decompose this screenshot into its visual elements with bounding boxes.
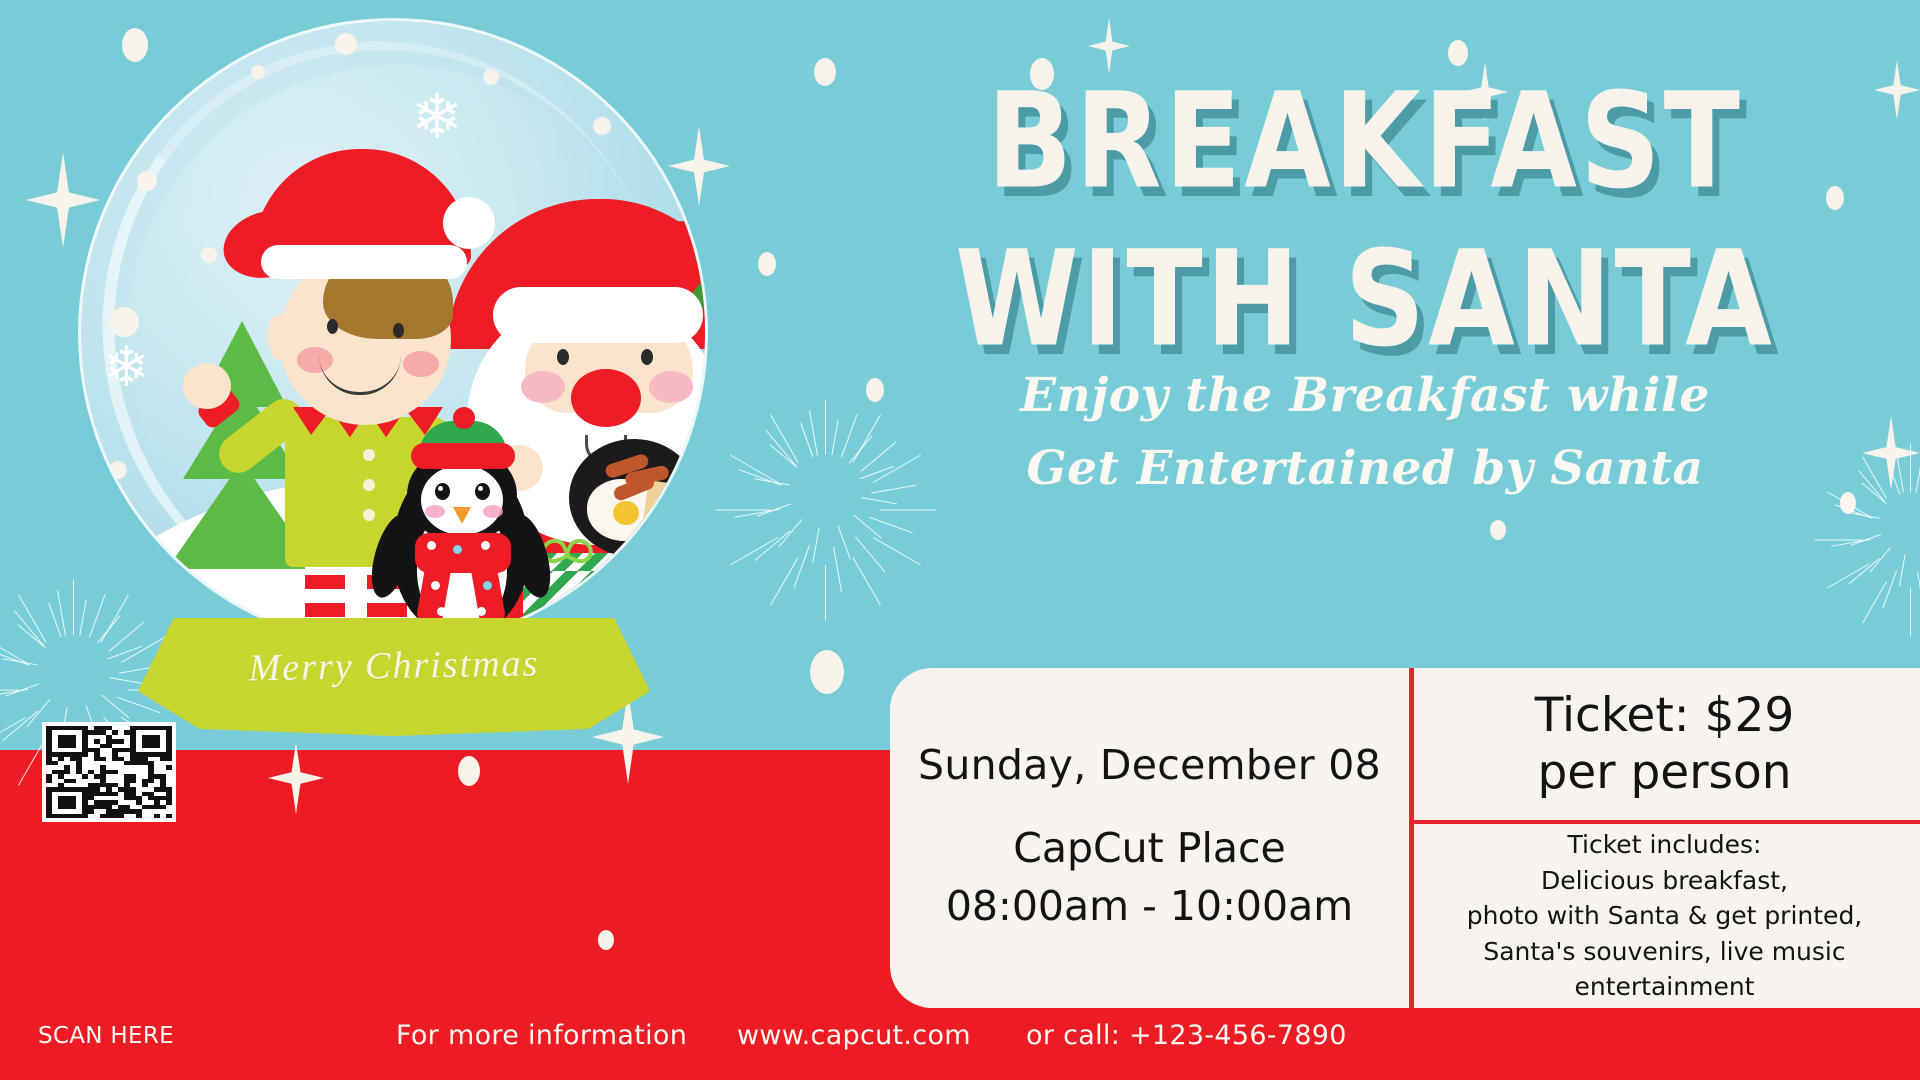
title-block: BREAKFAST WITH SANTA (845, 78, 1885, 346)
page-title-line-1: BREAKFAST (845, 78, 1885, 208)
penguin-beanie-pompom (453, 407, 475, 429)
subtitle-line-2: Get Entertained by Santa (845, 433, 1885, 506)
globe-base: Merry Christmas (138, 618, 650, 736)
ticket-includes-line-2: photo with Santa & get printed, (1467, 898, 1863, 934)
penguin-beanie-band (411, 443, 515, 469)
ticket-price-line-1: Ticket: $29 (1535, 687, 1795, 744)
footer-bar: SCAN HERE For more information www.capcu… (0, 1020, 1920, 1080)
ticket-price-block: Ticket: $29 per person (1409, 668, 1920, 820)
elf-hat-brim (261, 245, 467, 279)
penguin-cheek-right (483, 505, 503, 518)
elf-cheek-right (403, 351, 439, 377)
elf-eye-left (327, 319, 338, 334)
snow-dot (758, 252, 776, 276)
scarf-dot (481, 541, 490, 550)
info-card-row: Sunday, December 08 CapCut Place 08:00am… (890, 668, 1920, 1008)
scarf-dot (437, 607, 446, 616)
snow-dot (137, 171, 157, 191)
ticket-price-line-2: per person (1537, 744, 1791, 801)
ticket-includes-line-1: Delicious breakfast, (1541, 863, 1788, 899)
scarf-dot (453, 545, 462, 554)
scarf-dot (427, 541, 436, 550)
elf-hand-waving (183, 363, 231, 409)
santa-cheek-left (521, 371, 565, 403)
snow-dot (335, 33, 357, 55)
subtitle-block: Enjoy the Breakfast while Get Entertaine… (845, 360, 1885, 506)
qr-code-icon[interactable] (42, 722, 176, 822)
scan-here-label: SCAN HERE (38, 1023, 174, 1049)
scarf-dot (431, 581, 440, 590)
santa-nose (571, 369, 641, 427)
snow-dot (810, 650, 844, 694)
ticket-includes-line-3: Santa's souvenirs, live music (1483, 934, 1845, 970)
snow-globe-illustration: ❄ ❄ ❄ (78, 18, 708, 718)
event-details-card: Sunday, December 08 CapCut Place 08:00am… (890, 668, 1409, 1008)
page-title-line-2: WITH SANTA (845, 236, 1885, 366)
ticket-includes-block: Ticket includes: Delicious breakfast, ph… (1409, 824, 1920, 1008)
snow-dot (483, 69, 499, 85)
event-venue-time: CapCut Place 08:00am - 10:00am (946, 819, 1353, 935)
merry-christmas-text: Merry Christmas (138, 640, 651, 693)
globe-glass: ❄ ❄ ❄ (78, 18, 708, 648)
snow-dot (1448, 40, 1468, 66)
santa-eye-right (641, 349, 653, 365)
penguin-eye-left (435, 483, 450, 500)
penguin-cheek-left (425, 505, 445, 518)
snowflake-icon: ❄ (103, 339, 150, 395)
penguin-face (421, 465, 503, 535)
event-date: Sunday, December 08 (918, 741, 1381, 789)
snow-dot (109, 307, 139, 337)
flyer-canvas: ❄ ❄ ❄ (0, 0, 1920, 1080)
snow-dot (458, 756, 480, 786)
event-venue: CapCut Place (946, 819, 1353, 877)
santa-hat-brim (493, 287, 703, 343)
holly-leaf-icon (705, 294, 708, 344)
snow-dot (251, 65, 265, 79)
snow-dot (593, 117, 611, 135)
santa-eye-left (557, 349, 569, 365)
snow-dot (814, 58, 836, 86)
snowflake-icon: ❄ (411, 87, 463, 149)
scarf-dot (477, 607, 486, 616)
event-time: 08:00am - 10:00am (946, 877, 1353, 935)
ticket-includes-line-4: entertainment (1575, 969, 1755, 1005)
snow-dot (598, 930, 614, 950)
snow-dot (109, 461, 127, 479)
santa-cheek-right (649, 371, 693, 403)
phone-link[interactable]: or call: +123-456-7890 (1026, 1020, 1347, 1051)
subtitle-line-1: Enjoy the Breakfast while (845, 360, 1885, 433)
more-information-label: For more information (396, 1020, 687, 1051)
elf-hat-pompom (443, 197, 495, 249)
penguin-eye-right (475, 483, 490, 500)
breakfast-pan (569, 439, 708, 563)
website-link[interactable]: www.capcut.com (737, 1020, 971, 1051)
snow-dot (1490, 520, 1506, 540)
elf-eye-right (393, 323, 404, 338)
scarf-dot (483, 581, 492, 590)
ticket-includes-heading: Ticket includes: (1568, 827, 1762, 863)
snow-dot (201, 247, 217, 263)
penguin-character (371, 421, 551, 648)
fried-egg-yolk (613, 501, 639, 525)
